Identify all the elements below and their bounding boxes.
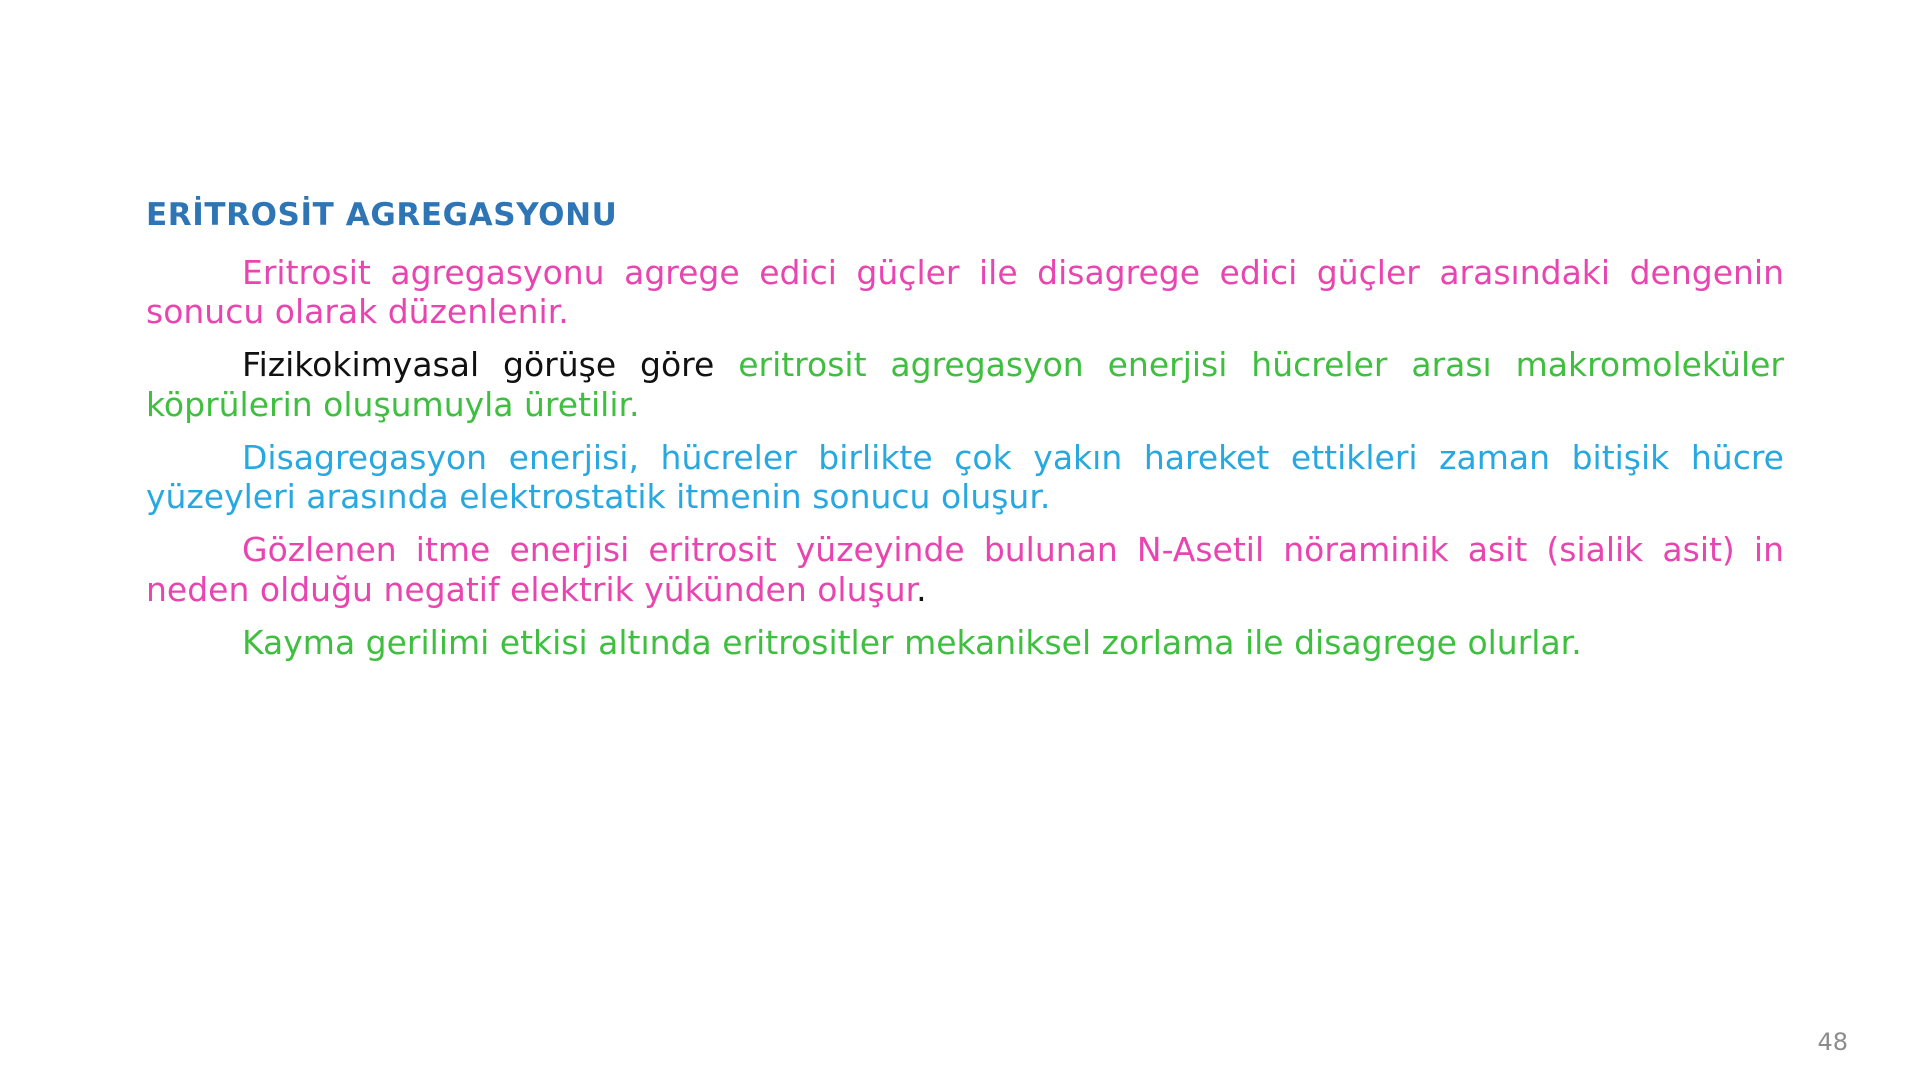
text-run: . [916,570,927,609]
text-run: Kayma gerilimi etkisi altında eritrositl… [242,623,1582,662]
text-run: Eritrosit agregasyonu agrege edici güçle… [146,253,1784,331]
paragraph-2: Fizikokimyasal görüşe göre eritrosit agr… [146,345,1784,424]
paragraph-3: Disagregasyon enerjisi, hücreler birlikt… [146,438,1784,517]
text-run: Disagregasyon enerjisi, hücreler birlikt… [146,438,1784,516]
slide-canvas: ERİTROSİT AGREGASYONU Eritrosit agregasy… [0,0,1920,1080]
paragraph-1: Eritrosit agregasyonu agrege edici güçle… [146,253,1784,332]
page-number: 48 [1817,1030,1848,1054]
paragraph-5: Kayma gerilimi etkisi altında eritrositl… [146,623,1784,662]
text-run: Gözlenen itme enerjisi eritrosit yüzeyin… [146,530,1784,608]
slide-content-body: ERİTROSİT AGREGASYONU Eritrosit agregasy… [146,196,1784,662]
paragraph-4: Gözlenen itme enerjisi eritrosit yüzeyin… [146,530,1784,609]
text-run: Fizikokimyasal görüşe göre [242,345,738,384]
page-title: ERİTROSİT AGREGASYONU [146,196,1784,235]
